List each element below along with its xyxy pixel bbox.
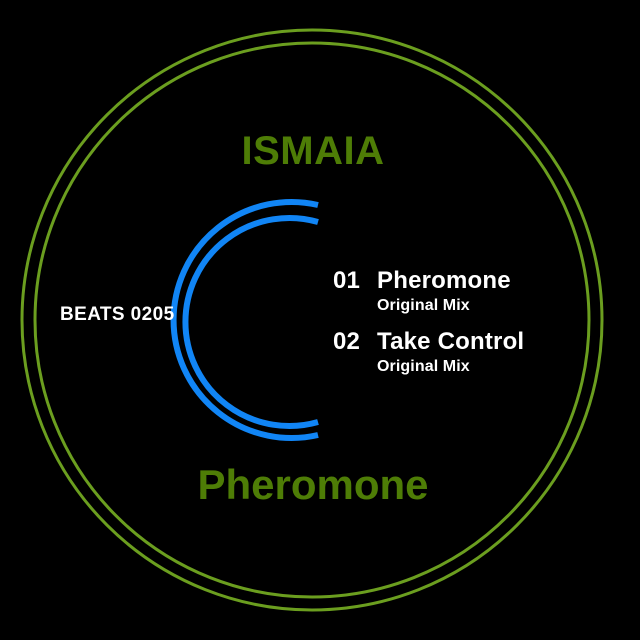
- album-cover: ISMAIA BEATS 0205 01Pheromone Original M…: [0, 0, 640, 640]
- track-number: 01: [333, 268, 377, 294]
- track-row: 01Pheromone Original Mix: [333, 268, 613, 315]
- track-title: Take Control: [377, 329, 524, 355]
- tracklist: 01Pheromone Original Mix 02Take Control …: [333, 268, 613, 390]
- artist-name: ISMAIA: [0, 131, 626, 171]
- track-version: Original Mix: [377, 294, 613, 315]
- track-row: 02Take Control Original Mix: [333, 329, 613, 376]
- track-main-line: 02Take Control: [333, 329, 613, 355]
- track-title: Pheromone: [377, 268, 511, 294]
- track-number: 02: [333, 329, 377, 355]
- track-main-line: 01Pheromone: [333, 268, 613, 294]
- catalog-number: BEATS 0205: [60, 305, 175, 324]
- release-title: Pheromone: [0, 464, 626, 506]
- track-version: Original Mix: [377, 355, 613, 376]
